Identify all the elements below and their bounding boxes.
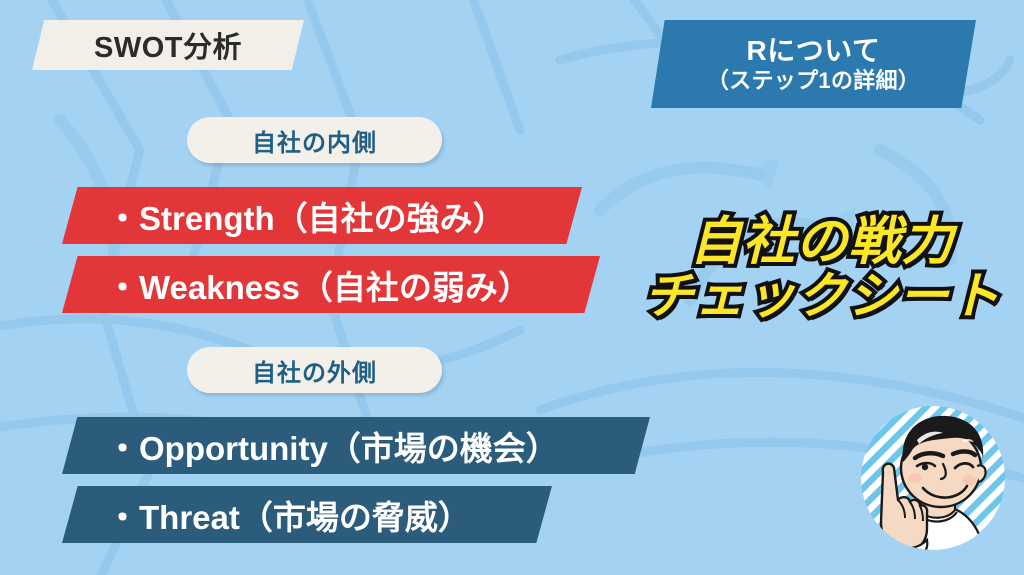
bar-strength-label: ・Strength（自社の強み） xyxy=(106,192,506,240)
swot-title-label: SWOT分析 xyxy=(94,24,242,66)
swot-title-banner: SWOT分析 xyxy=(32,20,304,70)
pointing-man-avatar xyxy=(855,400,1011,556)
r-header-line2: （ステップ1の詳細） xyxy=(707,68,920,93)
bar-strength: ・Strength（自社の強み） xyxy=(62,187,582,244)
pill-badge-external-label: 自社の外側 xyxy=(252,353,377,388)
bar-threat: ・Threat（市場の脅威） xyxy=(62,486,552,543)
bar-weakness-label: ・Weakness（自社の弱み） xyxy=(106,261,531,309)
bar-threat-label: ・Threat（市場の脅威） xyxy=(106,491,471,539)
r-header-line1: Rについて xyxy=(747,35,881,66)
bar-weakness: ・Weakness（自社の弱み） xyxy=(62,256,600,313)
r-section-header: Rについて （ステップ1の詳細） xyxy=(651,20,976,108)
pill-badge-internal: 自社の内側 xyxy=(187,117,442,163)
pill-badge-external: 自社の外側 xyxy=(187,347,442,393)
bar-opportunity: ・Opportunity（市場の機会） xyxy=(62,417,650,474)
slide-canvas: SWOT分析 Rについて （ステップ1の詳細） 自社の内側 ・Strength（… xyxy=(0,0,1024,575)
bar-opportunity-label: ・Opportunity（市場の機会） xyxy=(106,422,559,470)
pill-badge-internal-label: 自社の内側 xyxy=(252,123,377,158)
